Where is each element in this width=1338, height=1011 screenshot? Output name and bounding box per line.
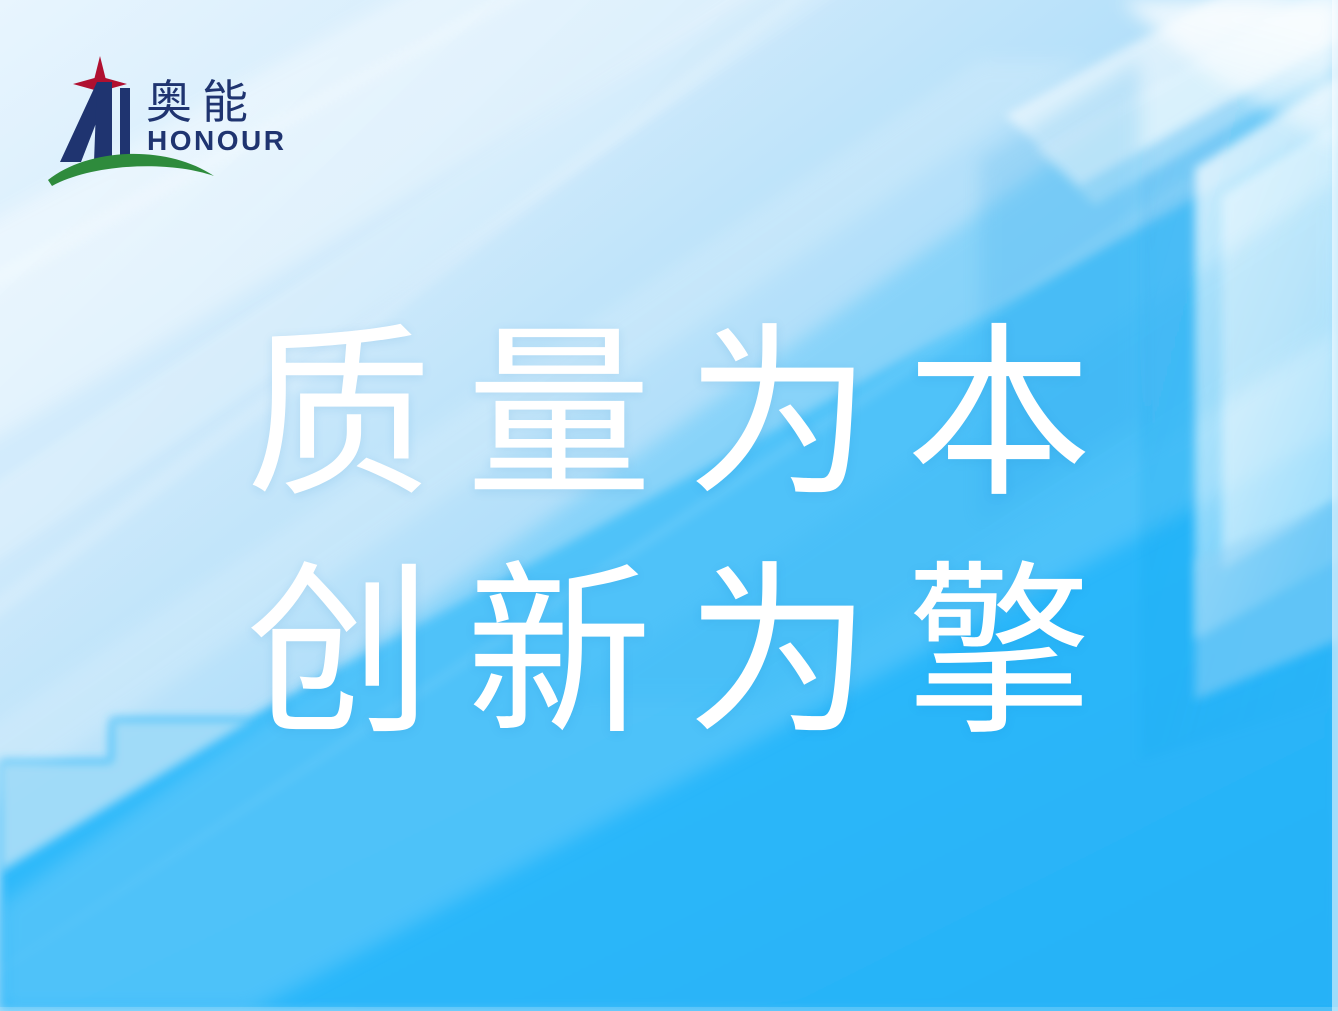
poster-canvas: 奥能 HONOUR 质量为本 创新为擎	[0, 0, 1338, 1011]
logo-latin-name: HONOUR	[147, 125, 286, 156]
headline-line-2: 创新为擎	[0, 538, 1338, 770]
headline-block: 质量为本 创新为擎	[0, 300, 1338, 770]
monogram-a-icon	[60, 82, 130, 162]
company-logo: 奥能 HONOUR	[48, 52, 310, 202]
headline-line-1: 质量为本	[0, 300, 1338, 532]
logo-chinese-name: 奥能	[146, 75, 258, 129]
